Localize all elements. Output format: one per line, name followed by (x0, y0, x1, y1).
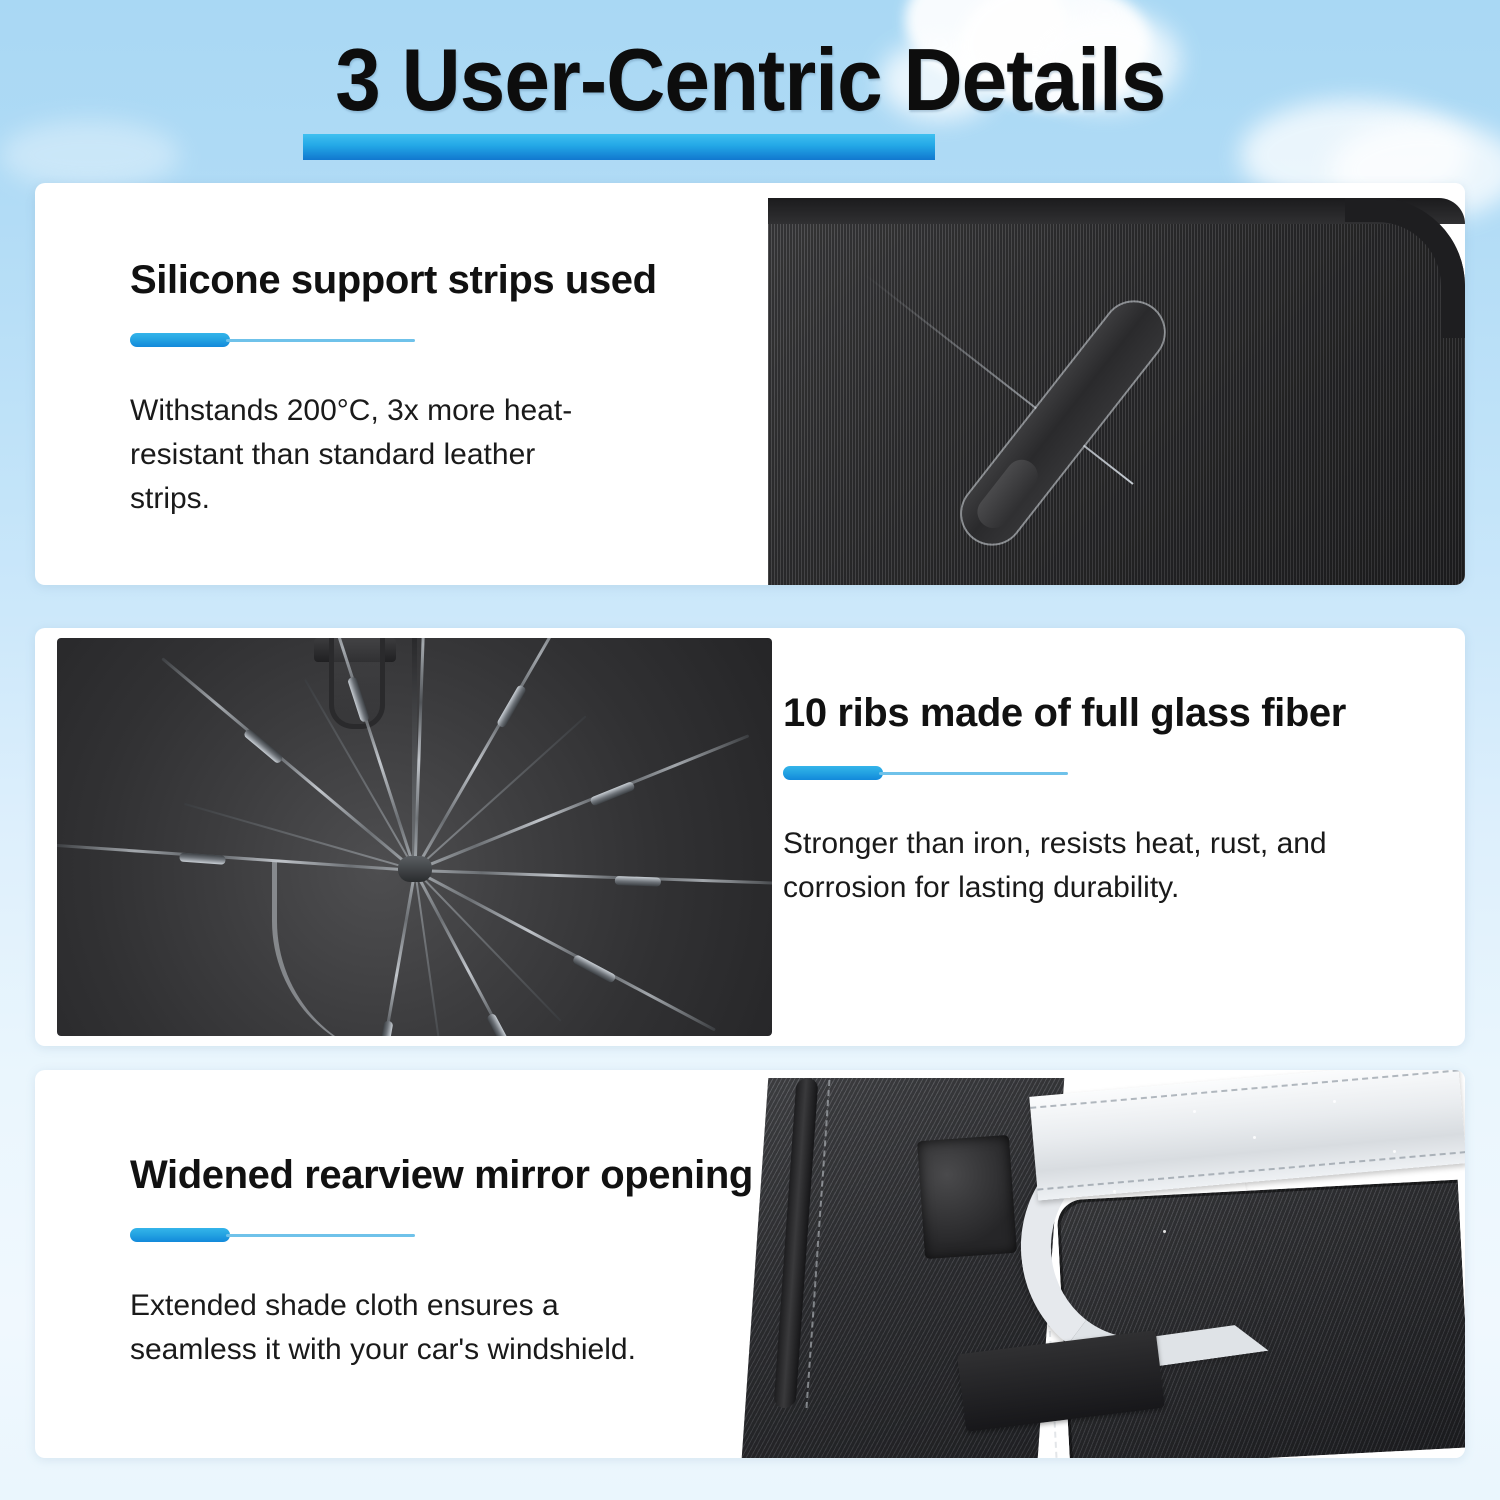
product-photo-silicone-strip (733, 183, 1465, 585)
strap-glint (1163, 1230, 1166, 1233)
product-photo-umbrella-ribs (57, 638, 772, 1036)
reflective-strap (1029, 1070, 1465, 1201)
accent-divider-thick (783, 766, 883, 780)
rib-joint (179, 852, 226, 864)
strap-glint (1393, 1150, 1396, 1153)
rib-joint (486, 1012, 516, 1036)
card-heading: 10 ribs made of full glass fiber (783, 690, 1383, 736)
card-body-text: Extended shade cloth ensures a seamless … (130, 1284, 670, 1372)
umbrella-rib (414, 869, 772, 885)
umbrella-rib-strut (414, 869, 561, 1021)
accent-divider-thick (130, 1228, 230, 1242)
rib-curve-highlight (272, 861, 427, 1036)
card-text-block: Silicone support strips used Withstands … (130, 257, 657, 521)
card-text-block: 10 ribs made of full glass fiber Stronge… (783, 690, 1383, 910)
accent-divider (130, 1228, 420, 1242)
velcro-patch (917, 1135, 1017, 1259)
page-title-block: 3 User-Centric Details (0, 28, 1500, 138)
card-body-text: Stronger than iron, resists heat, rust, … (783, 822, 1383, 910)
card-heading: Silicone support strips used (130, 257, 657, 303)
accent-divider-thick (130, 333, 230, 347)
card-body-text: Withstands 200°C, 3x more heat-resistant… (130, 389, 600, 521)
page-title: 3 User-Centric Details (335, 28, 1165, 132)
accent-divider-thin (226, 1234, 415, 1237)
strap-glint (1333, 1100, 1336, 1103)
strap-glint (1113, 1190, 1116, 1193)
product-photo-strap-velcro (733, 1070, 1465, 1458)
rib-joint (589, 781, 635, 807)
feature-card-rearview-mirror-opening: Widened rearview mirror opening Extended… (35, 1070, 1465, 1458)
title-underline-bar (303, 134, 935, 160)
card-heading: Widened rearview mirror opening (130, 1152, 753, 1198)
strap-glint (1253, 1136, 1256, 1139)
umbrella-rib (414, 734, 749, 872)
card-text-block: Widened rearview mirror opening Extended… (130, 1152, 753, 1372)
rib-joint (571, 954, 616, 984)
infographic-page: 3 User-Centric Details Silicone support … (0, 0, 1500, 1500)
rib-joint (614, 876, 660, 887)
accent-divider-thin (879, 772, 1068, 775)
feature-card-silicone-support-strips: Silicone support strips used Withstands … (35, 183, 1465, 585)
strap-glint (1193, 1110, 1196, 1113)
rib-joint (496, 684, 527, 728)
accent-divider-thin (226, 339, 415, 342)
umbrella-rib-strut (414, 715, 586, 870)
rib-hub (398, 856, 432, 882)
accent-divider (783, 766, 1073, 780)
feature-card-glass-fiber-ribs: 10 ribs made of full glass fiber Stronge… (35, 628, 1465, 1046)
accent-divider (130, 333, 420, 347)
rib-joint (242, 728, 283, 764)
